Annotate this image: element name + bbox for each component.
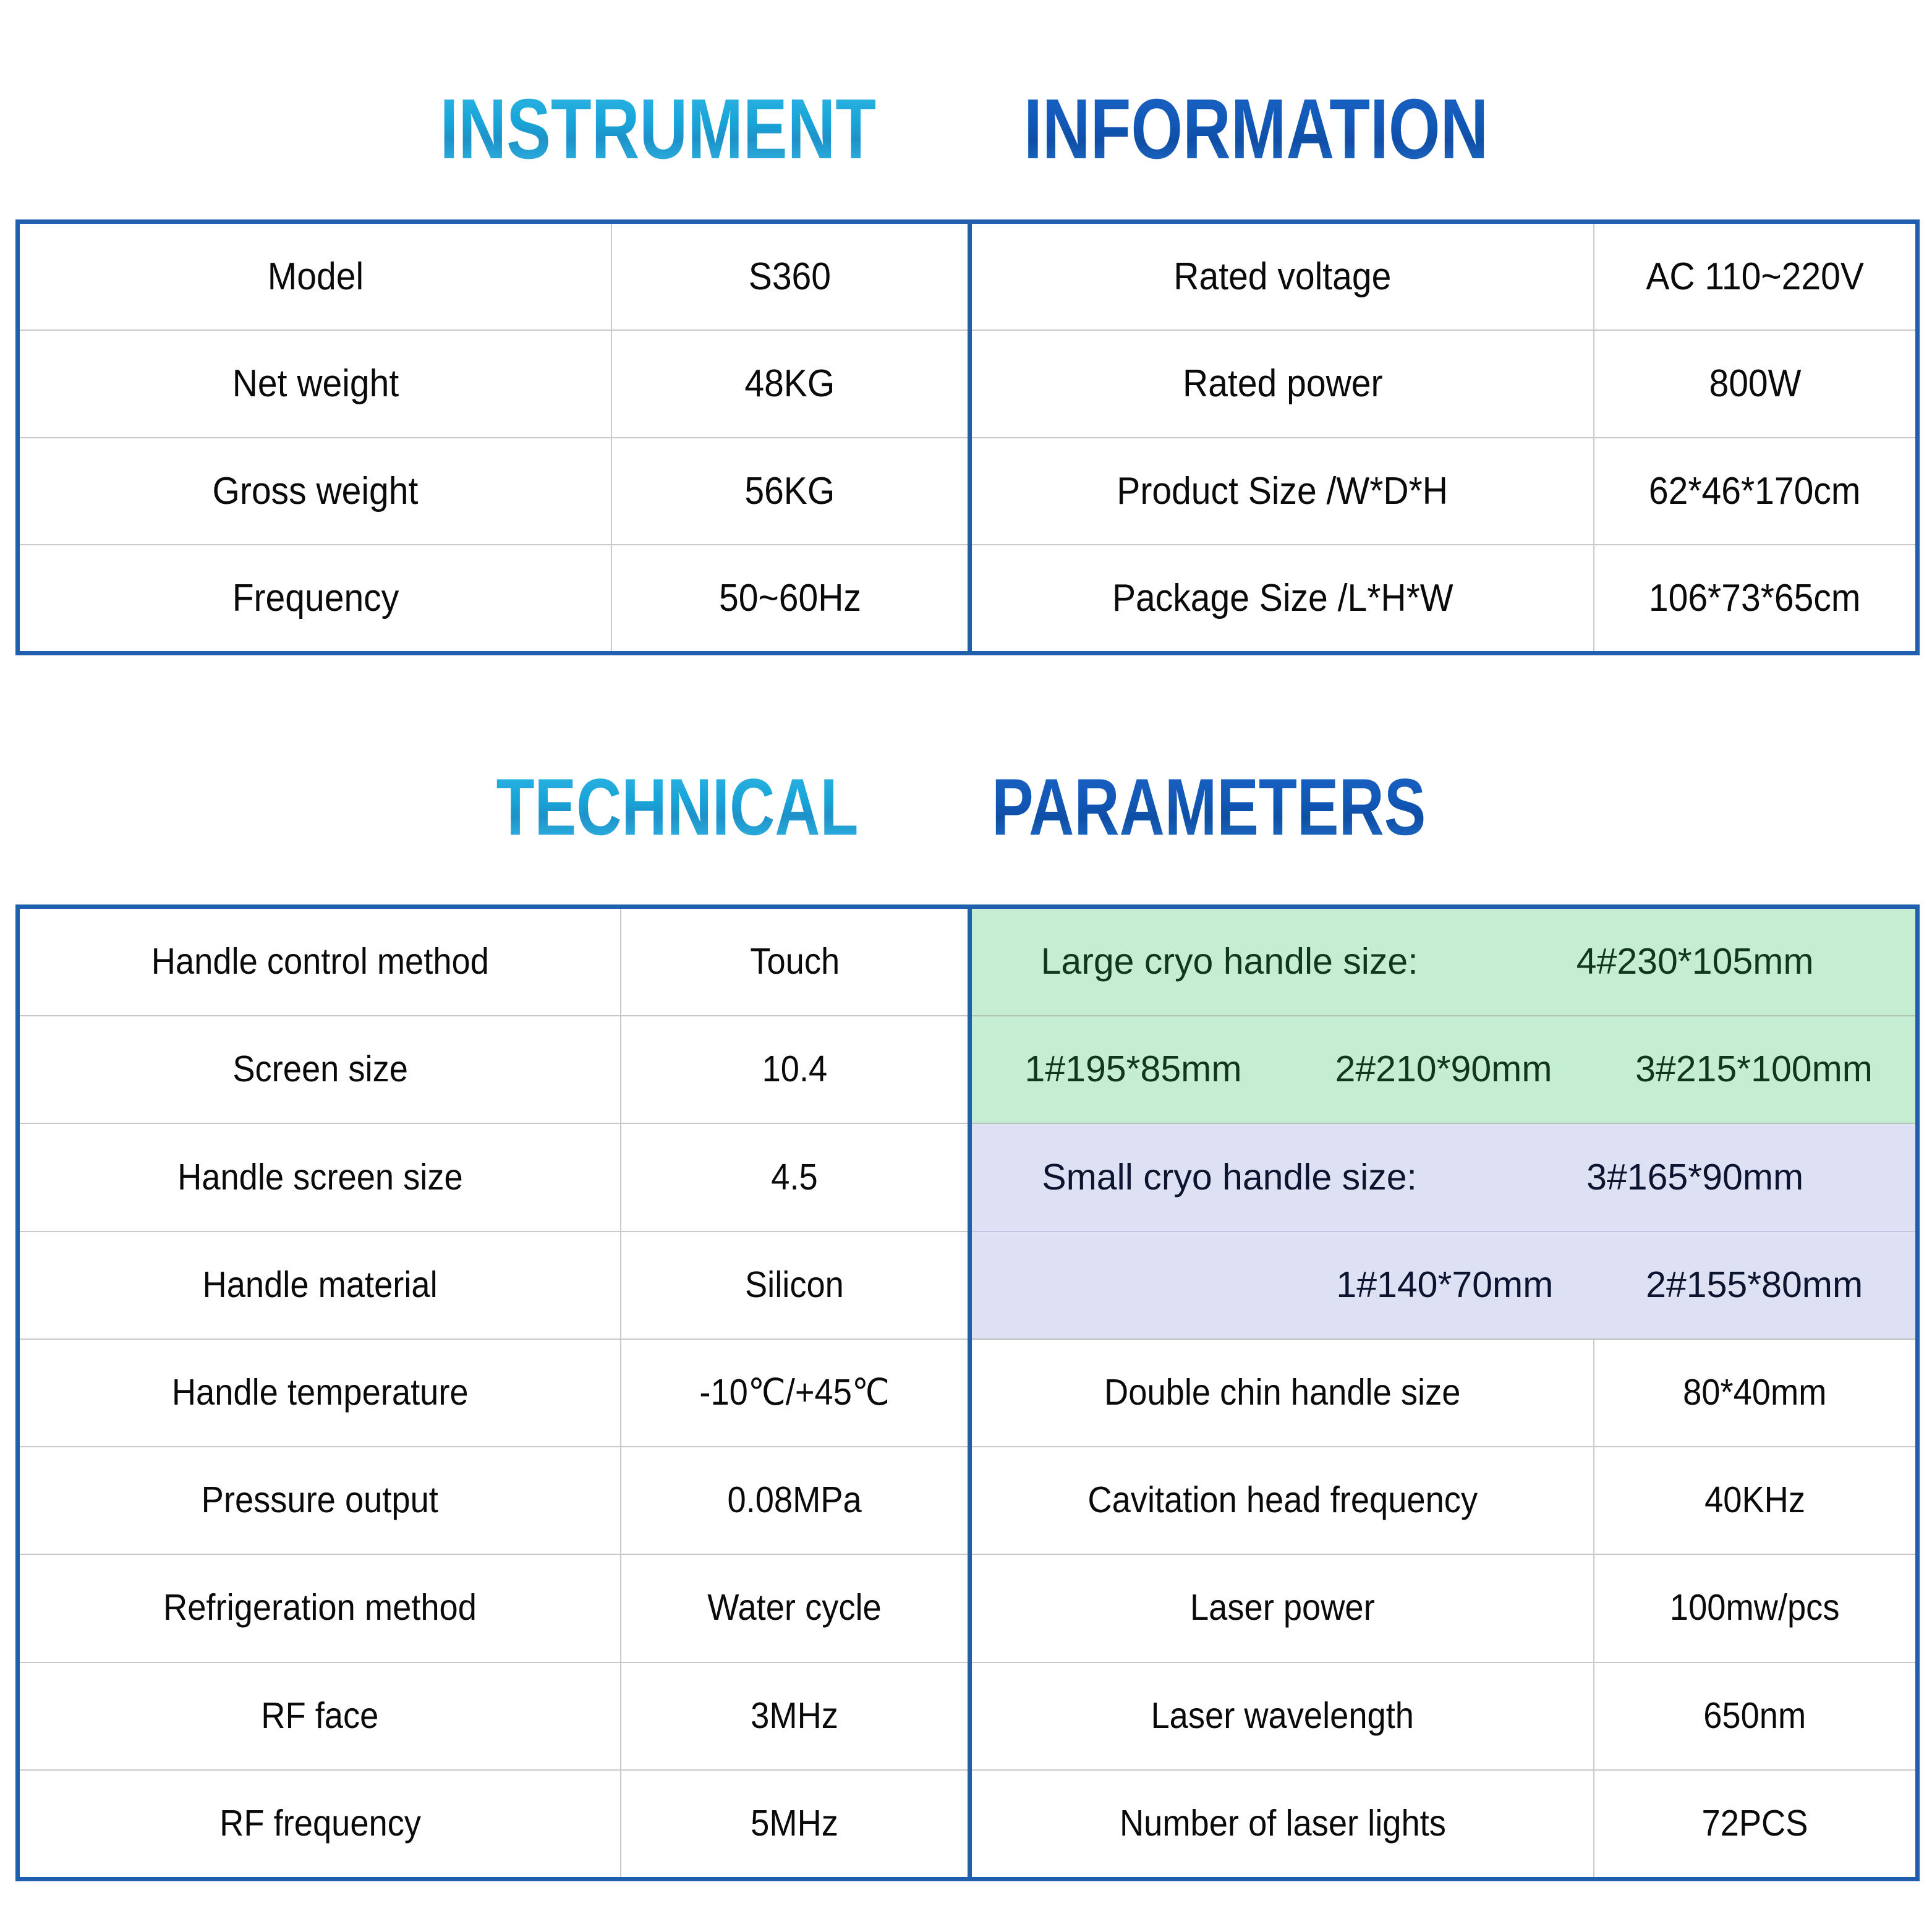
small-cryo-handle-size-cell: Small cryo handle size: 3#165*90mm bbox=[972, 1124, 1915, 1230]
large-cryo-handle-size-label: Large cryo handle size: bbox=[978, 943, 1481, 981]
row-value: 650nm bbox=[1594, 1663, 1915, 1769]
row-label: Handle control method bbox=[20, 909, 621, 1015]
row-label: Frequency bbox=[20, 545, 612, 651]
title-word-parameters: PARAMETERS bbox=[992, 767, 1426, 847]
row-label: Rated voltage bbox=[972, 224, 1594, 330]
large-cryo-handle-size-row: Large cryo handle size: 4#230*105mm bbox=[972, 909, 1915, 1016]
row-label: Cavitation head frequency bbox=[972, 1447, 1594, 1554]
row-label: Refrigeration method bbox=[20, 1555, 621, 1661]
row-label: Handle material bbox=[20, 1232, 621, 1338]
row-value: 0.08MPa bbox=[621, 1447, 968, 1554]
table-row: Pressure output 0.08MPa bbox=[20, 1447, 968, 1555]
table-row: Rated voltage AC 110~220V bbox=[972, 224, 1915, 331]
row-label: Net weight bbox=[20, 331, 612, 436]
row-label: Double chin handle size bbox=[972, 1340, 1594, 1446]
table-row: Laser power 100mw/pcs bbox=[972, 1555, 1915, 1662]
table-row: Handle control method Touch bbox=[20, 909, 968, 1016]
row-value: 100mw/pcs bbox=[1594, 1555, 1915, 1661]
title-word-information: INFORMATION bbox=[1024, 87, 1488, 172]
small-cryo-size-2: 2#155*80mm bbox=[1599, 1266, 1909, 1304]
row-label: Product Size /W*D*H bbox=[972, 438, 1594, 544]
technical-parameters-table: Handle control method Touch Screen size … bbox=[15, 904, 1920, 1881]
table-row: RF frequency 5MHz bbox=[20, 1771, 968, 1877]
row-label: Laser wavelength bbox=[972, 1663, 1594, 1769]
row-label: Gross weight bbox=[20, 438, 612, 544]
row-value: 3MHz bbox=[621, 1663, 968, 1769]
technical-table-right-half: Large cryo handle size: 4#230*105mm 1#19… bbox=[968, 909, 1915, 1877]
instrument-information-title: INSTRUMENTINFORMATION bbox=[0, 87, 1932, 172]
table-row: Handle screen size 4.5 bbox=[20, 1124, 968, 1232]
title-word-instrument: INSTRUMENT bbox=[440, 87, 876, 172]
table-row: Number of laser lights 72PCS bbox=[972, 1771, 1915, 1877]
row-value: 5MHz bbox=[621, 1771, 968, 1877]
small-cryo-size-1: 1#140*70mm bbox=[1290, 1266, 1600, 1304]
small-cryo-handle-size-value: 3#165*90mm bbox=[1481, 1159, 1909, 1197]
table-row: Rated power 800W bbox=[972, 331, 1915, 438]
small-cryo-handle-size-row: Small cryo handle size: 3#165*90mm bbox=[972, 1124, 1915, 1232]
large-cryo-handle-size-value: 4#230*105mm bbox=[1481, 943, 1909, 981]
large-cryo-handle-sizes-cell: 1#195*85mm 2#210*90mm 3#215*100mm bbox=[972, 1016, 1915, 1123]
table-row: Handle temperature -10℃/+45℃ bbox=[20, 1340, 968, 1447]
table-row: Laser wavelength 650nm bbox=[972, 1663, 1915, 1771]
row-value: Water cycle bbox=[621, 1555, 968, 1661]
small-cryo-handle-sizes-row: 1#140*70mm 2#155*80mm bbox=[972, 1232, 1915, 1340]
table-row: Gross weight 56KG bbox=[20, 438, 968, 545]
row-label: Package Size /L*H*W bbox=[972, 545, 1594, 651]
row-label: Laser power bbox=[972, 1555, 1594, 1661]
row-value: Silicon bbox=[621, 1232, 968, 1338]
large-cryo-handle-sizes-row: 1#195*85mm 2#210*90mm 3#215*100mm bbox=[972, 1016, 1915, 1124]
table-row: Handle material Silicon bbox=[20, 1232, 968, 1340]
instrument-information-table: Model S360 Net weight 48KG Gross weight … bbox=[15, 219, 1920, 655]
instrument-table-right-half: Rated voltage AC 110~220V Rated power 80… bbox=[968, 224, 1915, 651]
row-value: 62*46*170cm bbox=[1594, 438, 1915, 544]
technical-table-left-half: Handle control method Touch Screen size … bbox=[20, 909, 968, 1877]
row-label: RF face bbox=[20, 1663, 621, 1769]
instrument-table-left-half: Model S360 Net weight 48KG Gross weight … bbox=[20, 224, 968, 651]
table-row: Screen size 10.4 bbox=[20, 1016, 968, 1124]
small-cryo-handle-size-label: Small cryo handle size: bbox=[978, 1159, 1481, 1197]
row-value: AC 110~220V bbox=[1594, 224, 1915, 330]
table-row: Frequency 50~60Hz bbox=[20, 545, 968, 651]
row-label: Rated power bbox=[972, 331, 1594, 436]
spec-sheet-page: INSTRUMENTINFORMATION Model S360 Net wei… bbox=[0, 0, 1932, 1932]
row-label: Number of laser lights bbox=[972, 1771, 1594, 1877]
table-row: Net weight 48KG bbox=[20, 331, 968, 438]
row-value: 56KG bbox=[612, 438, 968, 544]
table-row: Model S360 bbox=[20, 224, 968, 331]
table-row: Cavitation head frequency 40KHz bbox=[972, 1447, 1915, 1555]
title-word-technical: TECHNICAL bbox=[496, 767, 858, 847]
row-value: 80*40mm bbox=[1594, 1340, 1915, 1446]
row-value: 48KG bbox=[612, 331, 968, 436]
row-value: 10.4 bbox=[621, 1016, 968, 1123]
table-row: Refrigeration method Water cycle bbox=[20, 1555, 968, 1662]
large-cryo-handle-size-cell: Large cryo handle size: 4#230*105mm bbox=[972, 909, 1915, 1015]
row-value: S360 bbox=[612, 224, 968, 330]
row-label: Handle temperature bbox=[20, 1340, 621, 1446]
row-label: Handle screen size bbox=[20, 1124, 621, 1230]
row-label: Screen size bbox=[20, 1016, 621, 1123]
large-cryo-size-1: 1#195*85mm bbox=[978, 1050, 1288, 1089]
table-row: Product Size /W*D*H 62*46*170cm bbox=[972, 438, 1915, 545]
technical-parameters-title: TECHNICALPARAMETERS bbox=[0, 767, 1932, 847]
row-label: Model bbox=[20, 224, 612, 330]
row-value: 106*73*65cm bbox=[1594, 545, 1915, 651]
large-cryo-size-2: 2#210*90mm bbox=[1288, 1050, 1599, 1089]
row-value: 4.5 bbox=[621, 1124, 968, 1230]
row-value: 800W bbox=[1594, 331, 1915, 436]
row-label: Pressure output bbox=[20, 1447, 621, 1554]
small-cryo-handle-sizes-cell: 1#140*70mm 2#155*80mm bbox=[972, 1232, 1915, 1338]
table-row: Package Size /L*H*W 106*73*65cm bbox=[972, 545, 1915, 651]
table-row: RF face 3MHz bbox=[20, 1663, 968, 1771]
row-value: -10℃/+45℃ bbox=[621, 1340, 968, 1446]
row-value: 50~60Hz bbox=[612, 545, 968, 651]
large-cryo-size-3: 3#215*100mm bbox=[1599, 1050, 1909, 1089]
row-value: 72PCS bbox=[1594, 1771, 1915, 1877]
row-value: 40KHz bbox=[1594, 1447, 1915, 1554]
row-label: RF frequency bbox=[20, 1771, 621, 1877]
table-row: Double chin handle size 80*40mm bbox=[972, 1340, 1915, 1447]
row-value: Touch bbox=[621, 909, 968, 1015]
